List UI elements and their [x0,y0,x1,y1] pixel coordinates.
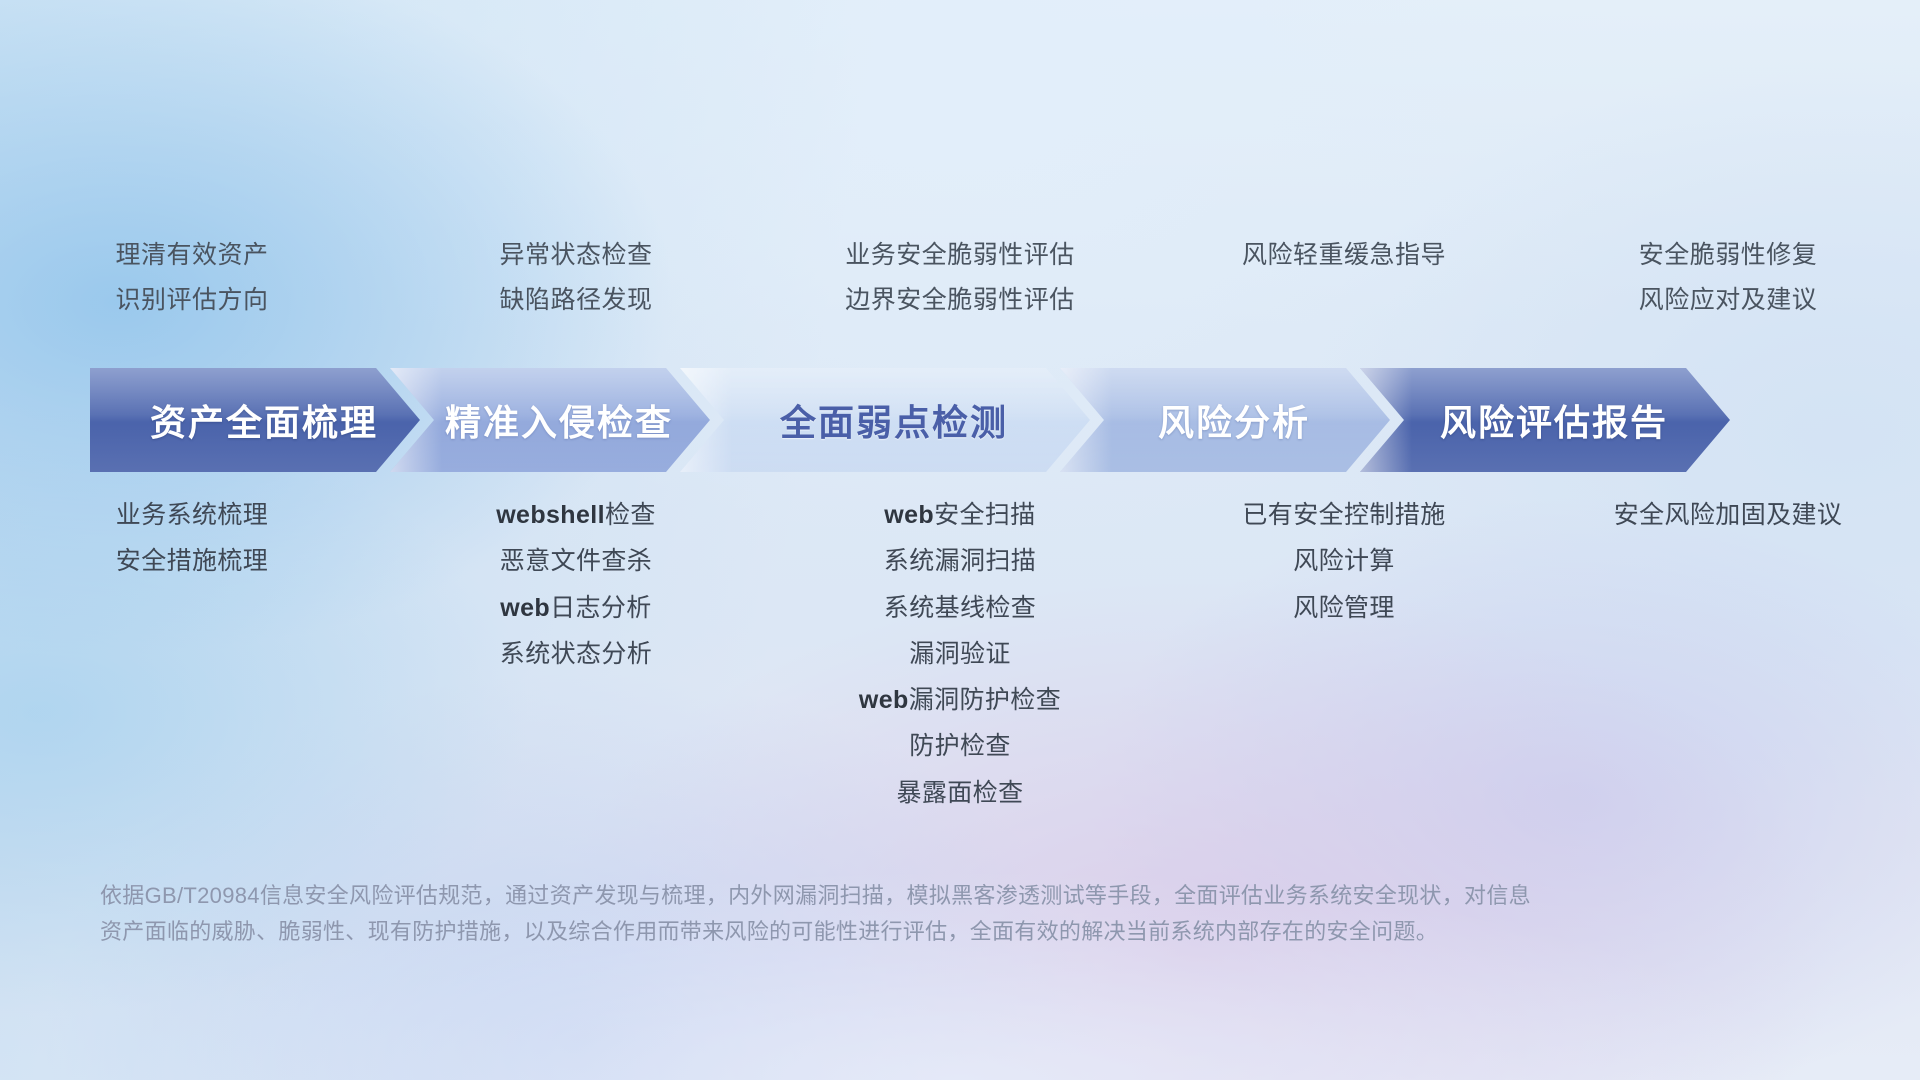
top-line: 异常状态检查 [499,240,652,271]
stage-title: 精准入侵检查 [427,394,673,446]
top-column-intrusion-check: 异常状态检查 缺陷路径发现 [384,230,768,350]
top-line: 边界安全脆弱性评估 [845,285,1075,316]
top-line: 理清有效资产 [115,240,268,271]
stage-title: 风险评估报告 [1422,394,1668,446]
top-column-weakness-detection: 业务安全脆弱性评估 边界安全脆弱性评估 [768,230,1152,350]
bottom-column-asset-inventory: 业务系统梳理 安全措施梳理 [0,500,384,578]
top-line: 安全脆弱性修复 [1639,240,1818,271]
bottom-line: 业务系统梳理 [116,500,268,531]
bottom-line: 防护检查 [909,731,1011,762]
bottom-line: 风险管理 [1293,593,1395,624]
stage-chevron-risk-report[interactable]: 风险评估报告 [1360,368,1730,472]
stage-chevron-weakness-detection[interactable]: 全面弱点检测 [680,368,1090,472]
bottom-column-risk-report: 安全风险加固及建议 [1536,500,1920,531]
stage-title: 风险分析 [1140,394,1310,446]
bottom-line: 安全措施梳理 [116,546,268,577]
bottom-line: 漏洞验证 [909,639,1011,670]
stage-title: 资产全面梳理 [132,394,378,446]
stage-chevron-band: 资产全面梳理 精准入侵检查 全面弱点检测 风险分析 风险评估报告 [90,368,1840,472]
bottom-line: 系统基线检查 [884,593,1036,624]
bottom-line: 系统漏洞扫描 [884,546,1036,577]
bottom-line: 风险计算 [1293,546,1395,577]
footer-line-1: 依据GB/T20984信息安全风险评估规范，通过资产发现与梳理，内外网漏洞扫描，… [100,878,1660,914]
top-line: 风险轻重缓急指导 [1242,240,1446,271]
bottom-column-weakness-detection: web安全扫描 系统漏洞扫描 系统基线检查 漏洞验证 web漏洞防护检查 防护检… [768,500,1152,809]
bottom-line: web日志分析 [500,593,651,624]
top-line: 业务安全脆弱性评估 [845,240,1075,271]
bottom-line: 暴露面检查 [896,778,1023,809]
stage-chevron-intrusion-check[interactable]: 精准入侵检查 [390,368,710,472]
bottom-line: 恶意文件查杀 [500,546,652,577]
top-line: 识别评估方向 [115,285,268,316]
bottom-column-intrusion-check: webshell检查 恶意文件查杀 web日志分析 系统状态分析 [384,500,768,670]
bottom-line: 安全风险加固及建议 [1614,500,1843,531]
footer-line-2: 资产面临的威胁、脆弱性、现有防护措施，以及综合作用而带来风险的可能性进行评估，全… [100,914,1660,950]
process-diagram: 理清有效资产 识别评估方向 异常状态检查 缺陷路径发现 业务安全脆弱性评估 边界… [0,0,1920,1080]
bottom-descriptor-row: 业务系统梳理 安全措施梳理 webshell检查 恶意文件查杀 web日志分析 … [0,500,1920,809]
stage-chevron-risk-analysis[interactable]: 风险分析 [1060,368,1390,472]
top-column-risk-analysis: 风险轻重缓急指导 [1152,230,1536,350]
top-descriptor-row: 理清有效资产 识别评估方向 异常状态检查 缺陷路径发现 业务安全脆弱性评估 边界… [0,230,1920,350]
bottom-line: web安全扫描 [884,500,1035,531]
footer-description: 依据GB/T20984信息安全风险评估规范，通过资产发现与梳理，内外网漏洞扫描，… [100,878,1660,951]
top-line: 风险应对及建议 [1639,285,1818,316]
top-column-asset-inventory: 理清有效资产 识别评估方向 [0,230,384,350]
bottom-line: webshell检查 [496,500,656,531]
bottom-line: 系统状态分析 [500,639,652,670]
stage-chevron-asset-inventory[interactable]: 资产全面梳理 [90,368,420,472]
top-column-risk-report: 安全脆弱性修复 风险应对及建议 [1536,230,1920,350]
stage-title: 全面弱点检测 [762,394,1008,446]
bottom-line: web漏洞防护检查 [859,685,1061,716]
bottom-column-risk-analysis: 已有安全控制措施 风险计算 风险管理 [1152,500,1536,624]
top-line: 缺陷路径发现 [499,285,652,316]
bottom-line: 已有安全控制措施 [1242,500,1445,531]
